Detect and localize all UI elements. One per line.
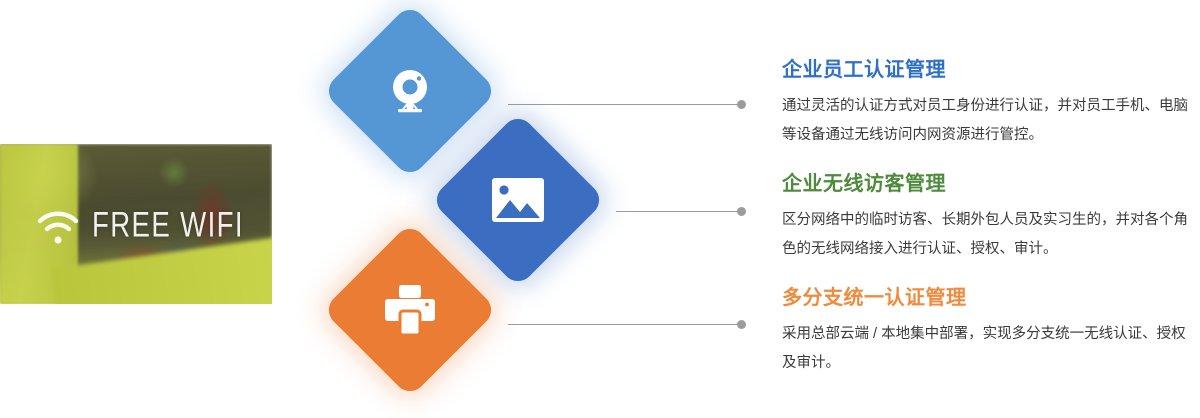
infographic-stage: FREE WIFI [0,0,1200,418]
photo-overlay-text: FREE WIFI [92,206,244,246]
connector-dot-3 [737,320,746,329]
connector-line-3 [508,324,741,325]
connector-dot-2 [737,207,746,216]
feature-description: 采用总部云端 / 本地集中部署，实现多分支统一无线认证、授权及审计。 [782,320,1192,378]
feature-block-employee-auth: 企业员工认证管理 通过灵活的认证方式对员工身份进行认证，并对员工手机、电脑等设备… [782,58,1192,150]
feature-block-guest-access: 企业无线访客管理 区分网络中的临时访客、长期外包人员及实习生的，并对各个角色的无… [782,172,1192,264]
connector-dot-1 [737,100,746,109]
wifi-icon [36,207,80,247]
feature-block-multibranch-auth: 多分支统一认证管理 采用总部云端 / 本地集中部署，实现多分支统一无线认证、授权… [782,286,1192,378]
feature-title: 企业员工认证管理 [782,58,1192,82]
image-icon [490,176,546,224]
feature-title: 多分支统一认证管理 [782,286,1192,310]
connector-line-1 [508,104,741,105]
feature-title: 企业无线访客管理 [782,172,1192,196]
feature-description: 通过灵活的认证方式对员工身份进行认证，并对员工手机、电脑等设备通过无线访问内网资… [782,92,1192,150]
connector-line-2 [616,211,741,212]
free-wifi-photo: FREE WIFI [0,144,272,304]
printer-icon [382,284,438,336]
feature-description: 区分网络中的临时访客、长期外包人员及实习生的，并对各个角色的无线网络接入进行认证… [782,206,1192,264]
webcam-icon [382,63,438,119]
